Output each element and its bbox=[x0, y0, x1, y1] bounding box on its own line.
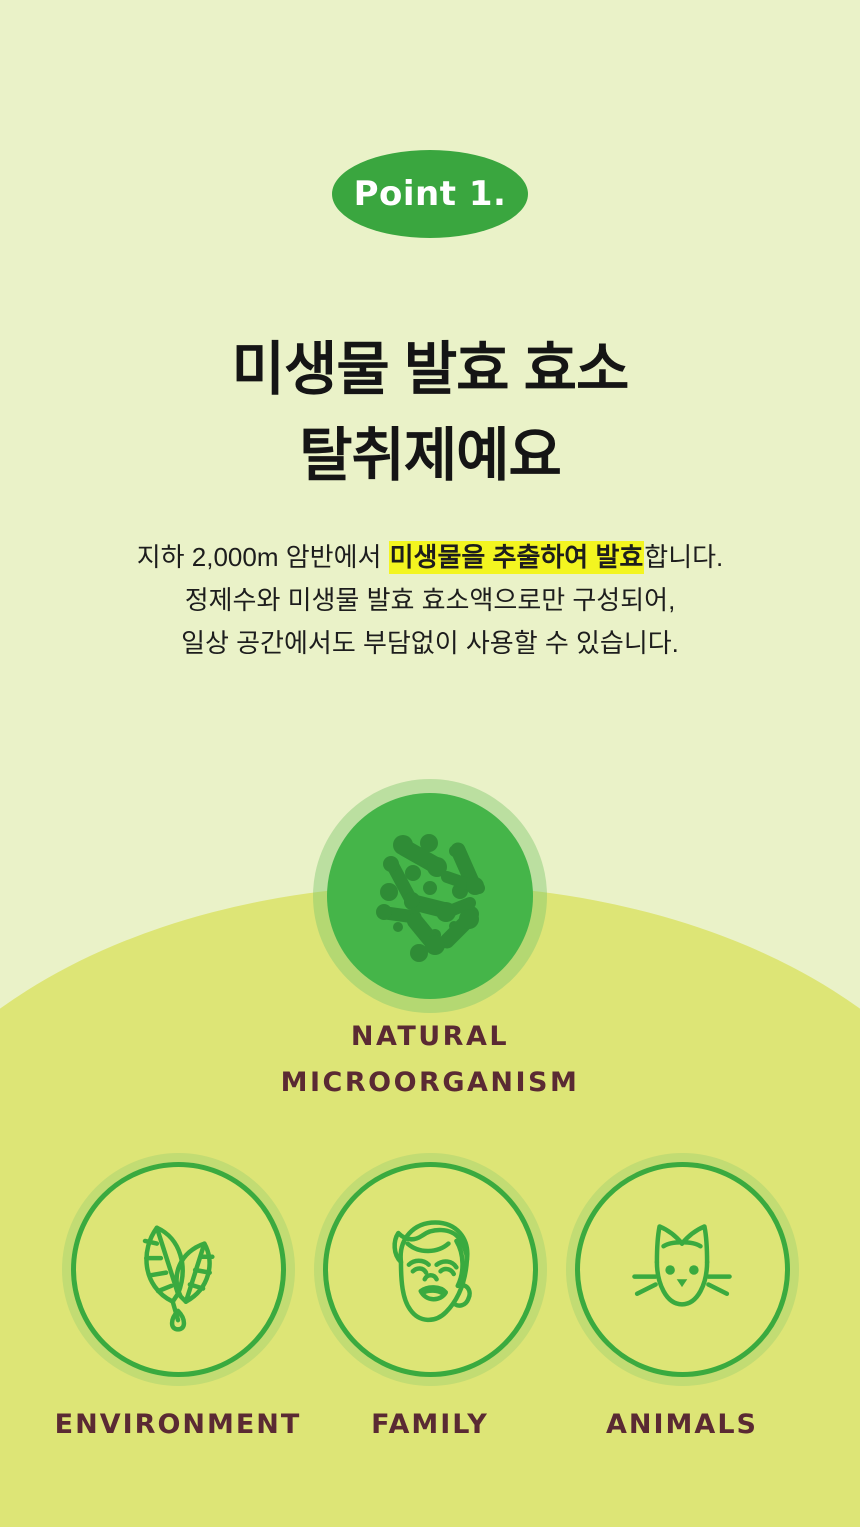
microorganism-caption-line-2: MICROORGANISM bbox=[0, 1060, 860, 1106]
microorganism-caption-line-1: NATURAL bbox=[0, 1014, 860, 1060]
point-badge: Point 1. bbox=[332, 150, 528, 238]
feature-label-environment: ENVIRONMENT bbox=[55, 1409, 302, 1440]
body-line-1-highlight: 미생물을 추출하여 발효 bbox=[389, 541, 645, 574]
feature-item-animals: ANIMALS bbox=[575, 1162, 790, 1440]
body-copy: 지하 2,000m 암반에서 미생물을 추출하여 발효합니다. 정제수와 미생물… bbox=[0, 536, 860, 665]
body-line-2: 정제수와 미생물 발효 효소액으로만 구성되어, bbox=[0, 579, 860, 622]
microorganism-icon bbox=[327, 793, 533, 999]
feature-ring-environment bbox=[71, 1162, 286, 1377]
page-title: 미생물 발효 효소 탈취제예요 bbox=[0, 327, 860, 499]
point-badge-container: Point 1. bbox=[0, 150, 860, 238]
body-line-1-pre: 지하 2,000m 암반에서 bbox=[137, 542, 389, 572]
leaf-droplet-icon bbox=[112, 1204, 244, 1336]
feature-item-environment: ENVIRONMENT bbox=[71, 1162, 286, 1440]
feature-ring-family bbox=[323, 1162, 538, 1377]
body-line-3: 일상 공간에서도 부담없이 사용할 수 있습니다. bbox=[0, 622, 860, 665]
feature-item-family: FAMILY bbox=[323, 1162, 538, 1440]
microorganism-caption: NATURAL MICROORGANISM bbox=[0, 1014, 860, 1106]
body-line-1-post: 합니다. bbox=[644, 542, 723, 572]
feature-label-family: FAMILY bbox=[371, 1409, 489, 1440]
cat-face-icon bbox=[616, 1204, 748, 1336]
microorganism-hero bbox=[0, 793, 860, 999]
microorganism-circle bbox=[327, 793, 533, 999]
promo-page: Point 1. 미생물 발효 효소 탈취제예요 지하 2,000m 암반에서 … bbox=[0, 0, 860, 1527]
child-face-icon bbox=[364, 1204, 496, 1336]
body-line-1: 지하 2,000m 암반에서 미생물을 추출하여 발효합니다. bbox=[0, 536, 860, 579]
headline-line-2: 탈취제예요 bbox=[0, 413, 860, 499]
feature-label-animals: ANIMALS bbox=[606, 1409, 758, 1440]
headline-line-1: 미생물 발효 효소 bbox=[0, 327, 860, 413]
feature-list: ENVIRONMENT FAMILY bbox=[0, 1162, 860, 1440]
feature-ring-animals bbox=[575, 1162, 790, 1377]
